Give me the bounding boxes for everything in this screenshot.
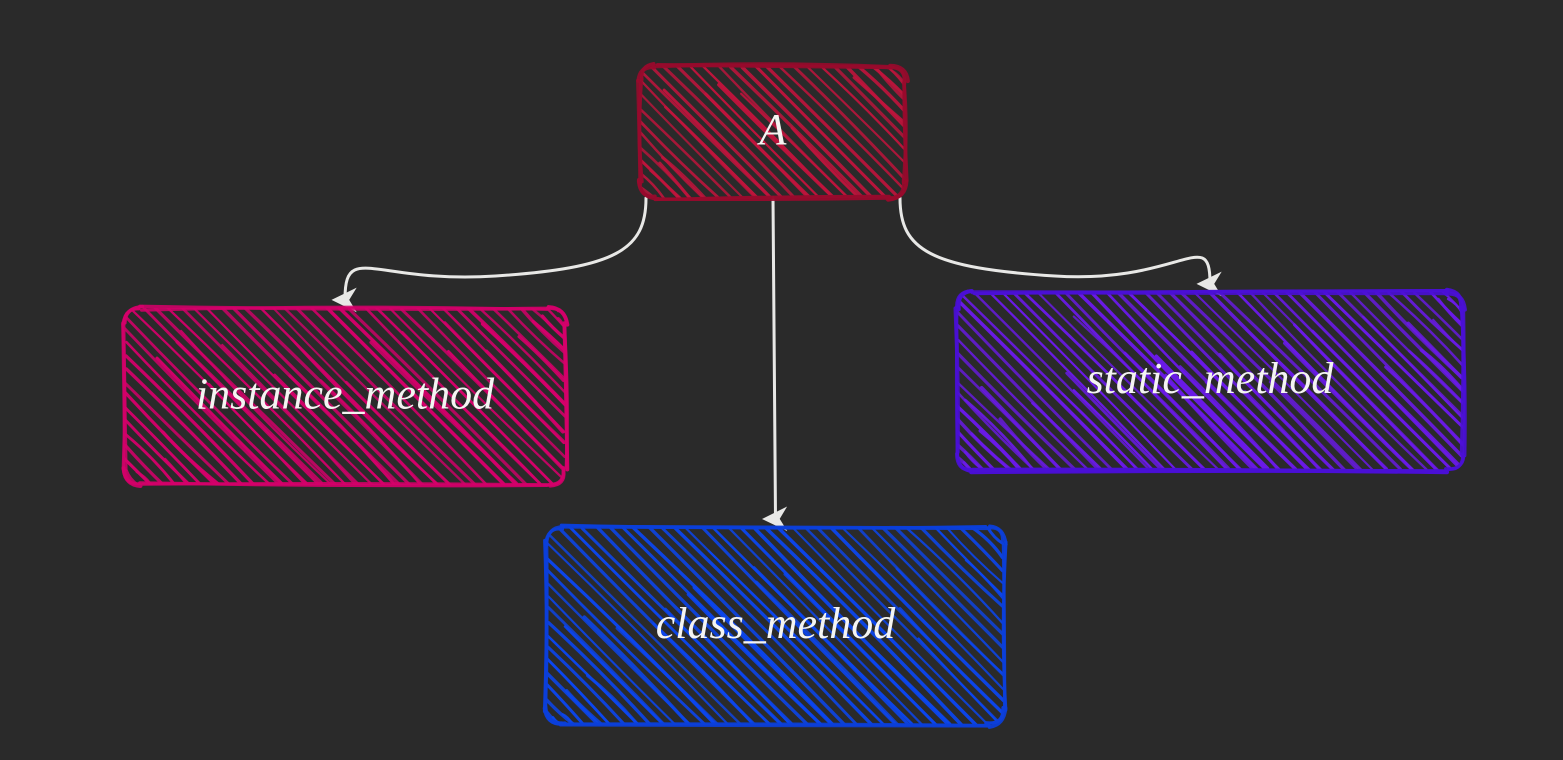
node-label-class-method: class_method bbox=[656, 599, 897, 648]
class-method-diagram: Ainstance_methodclass_methodstatic_metho… bbox=[0, 0, 1563, 760]
node-class-method[interactable]: class_method bbox=[545, 525, 1006, 727]
node-static-method[interactable]: static_method bbox=[956, 290, 1466, 472]
node-label-static-method: static_method bbox=[1087, 354, 1335, 403]
edge-root-to-instance-method bbox=[345, 198, 646, 299]
nodes-layer: Ainstance_methodclass_methodstatic_metho… bbox=[123, 64, 1465, 728]
diagram-canvas: Ainstance_methodclass_methodstatic_metho… bbox=[0, 0, 1563, 760]
edge-root-to-static-method bbox=[900, 198, 1210, 283]
node-instance-method[interactable]: instance_method bbox=[123, 306, 568, 487]
node-root[interactable]: A bbox=[638, 64, 908, 200]
edge-root-to-class-method bbox=[773, 198, 776, 518]
node-label-root: A bbox=[757, 105, 788, 154]
node-label-instance-method: instance_method bbox=[196, 370, 495, 419]
